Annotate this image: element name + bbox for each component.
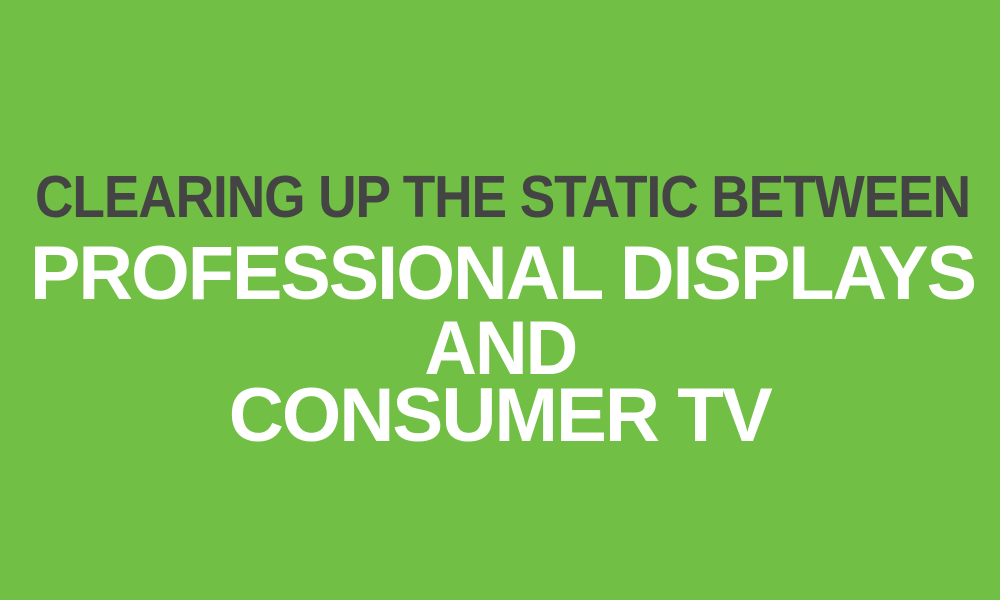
headline-line-professional-displays: PROFESSIONAL DISPLAYS [30,236,975,312]
title-slide: CLEARING UP THE STATIC BETWEEN PROFESSIO… [0,0,1000,600]
headline-block: CLEARING UP THE STATIC BETWEEN PROFESSIO… [0,0,1000,600]
headline-kicker-line: CLEARING UP THE STATIC BETWEEN [35,168,970,227]
headline-line-consumer-tv: CONSUMER TV [0,378,1000,454]
